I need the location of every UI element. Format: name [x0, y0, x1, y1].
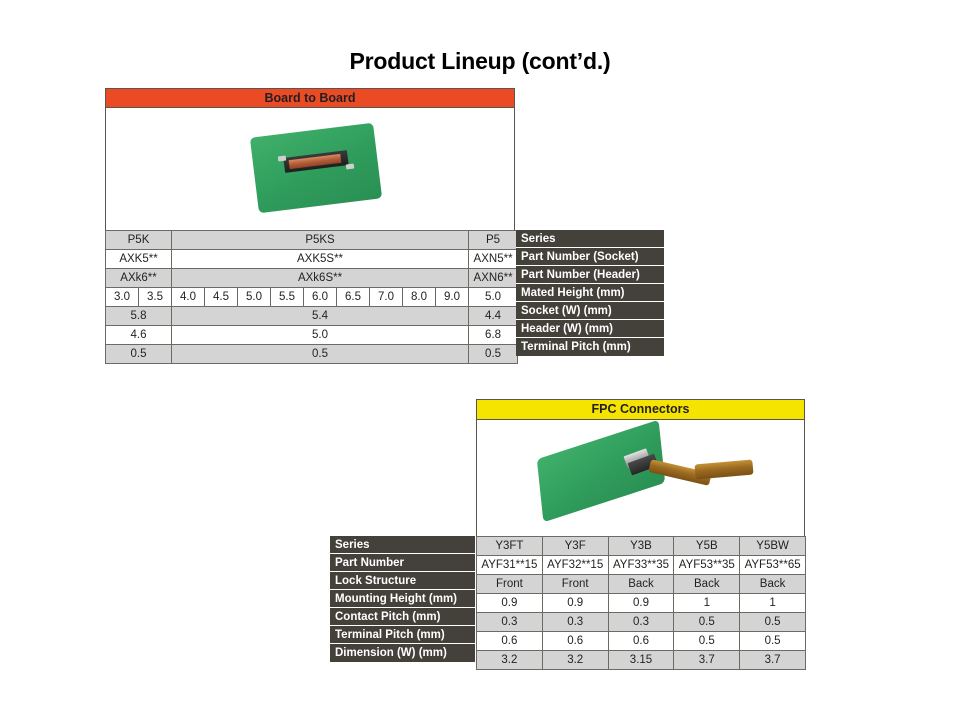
table-cell: 0.6 — [542, 632, 608, 651]
table-cell: 1 — [674, 594, 740, 613]
table-cell: 3.7 — [674, 651, 740, 670]
table-cell: 4.6 — [106, 326, 172, 345]
table-cell: 3.0 — [106, 288, 139, 307]
table-cell: 5.4 — [172, 307, 469, 326]
connector-tab-left — [278, 156, 287, 162]
table-cell: 0.6 — [477, 632, 543, 651]
table-cell: Front — [477, 575, 543, 594]
board-to-board-row-label: Part Number (Header) — [516, 266, 664, 284]
table-cell: 0.9 — [542, 594, 608, 613]
table-row: P5KP5KSP5 — [106, 231, 518, 250]
table-cell: Y3FT — [477, 537, 543, 556]
table-cell: 0.3 — [477, 613, 543, 632]
fpc-table-body: Y3FTY3FY3BY5BY5BWAYF31**15AYF32**15AYF33… — [477, 537, 806, 670]
table-cell: 3.15 — [608, 651, 674, 670]
table-cell: 6.0 — [304, 288, 337, 307]
table-cell: 0.5 — [469, 345, 518, 364]
table-cell: 9.0 — [436, 288, 469, 307]
table-cell: 5.8 — [106, 307, 172, 326]
table-cell: P5 — [469, 231, 518, 250]
table-cell: 3.5 — [139, 288, 172, 307]
table-cell: 5.0 — [172, 326, 469, 345]
board-to-board-row-labels: SeriesPart Number (Socket)Part Number (H… — [516, 230, 664, 356]
table-cell: 0.6 — [608, 632, 674, 651]
fpc-row-label: Mounting Height (mm) — [330, 590, 475, 608]
fpc-spec-table: Y3FTY3FY3BY5BY5BWAYF31**15AYF32**15AYF33… — [476, 536, 806, 670]
fpc-row-label: Terminal Pitch (mm) — [330, 626, 475, 644]
table-cell: Y3B — [608, 537, 674, 556]
table-cell: 0.5 — [172, 345, 469, 364]
board-to-board-row-label: Terminal Pitch (mm) — [516, 338, 664, 356]
table-cell: Y3F — [542, 537, 608, 556]
fpc-flex-cable-tail — [694, 460, 753, 480]
table-cell: 0.3 — [542, 613, 608, 632]
table-row: AYF31**15AYF32**15AYF33**35AYF53**35AYF5… — [477, 556, 806, 575]
board-to-board-row-label: Part Number (Socket) — [516, 248, 664, 266]
table-cell: AYF33**35 — [608, 556, 674, 575]
table-cell: 3.7 — [740, 651, 806, 670]
table-cell: 3.2 — [542, 651, 608, 670]
table-row: AXk6**AXk6S**AXN6** — [106, 269, 518, 288]
table-row: 0.50.50.5 — [106, 345, 518, 364]
table-cell: 0.5 — [674, 613, 740, 632]
table-cell: Back — [740, 575, 806, 594]
board-to-board-photo — [105, 108, 515, 230]
table-cell: 0.5 — [106, 345, 172, 364]
table-cell: Y5BW — [740, 537, 806, 556]
fpc-row-label: Dimension (W) (mm) — [330, 644, 475, 662]
table-cell: 6.8 — [469, 326, 518, 345]
table-row: FrontFrontBackBackBack — [477, 575, 806, 594]
table-cell: 0.5 — [740, 632, 806, 651]
table-row: 0.60.60.60.50.5 — [477, 632, 806, 651]
board-to-board-row-label: Socket (W) (mm) — [516, 302, 664, 320]
table-cell: 5.0 — [238, 288, 271, 307]
table-cell: 0.3 — [608, 613, 674, 632]
table-cell: AXN5** — [469, 250, 518, 269]
table-cell: 5.5 — [271, 288, 304, 307]
table-row: 5.85.44.4 — [106, 307, 518, 326]
table-cell: AYF53**35 — [674, 556, 740, 575]
table-cell: AXK5S** — [172, 250, 469, 269]
pcb-board — [537, 420, 665, 522]
fpc-row-label: Series — [330, 536, 475, 554]
table-cell: 7.0 — [370, 288, 403, 307]
table-cell: AXk6** — [106, 269, 172, 288]
table-cell: AXK5** — [106, 250, 172, 269]
connector-tab-right — [346, 164, 355, 170]
table-cell: Y5B — [674, 537, 740, 556]
board-to-board-spec-table: P5KP5KSP5AXK5**AXK5S**AXN5**AXk6**AXk6S*… — [105, 230, 518, 364]
table-cell: 0.9 — [477, 594, 543, 613]
table-cell: 0.5 — [740, 613, 806, 632]
table-row: 0.90.90.911 — [477, 594, 806, 613]
fpc-connectors-banner: FPC Connectors — [476, 399, 805, 420]
table-cell: 6.5 — [337, 288, 370, 307]
fpc-row-labels: SeriesPart NumberLock StructureMounting … — [330, 536, 475, 662]
table-cell: 4.5 — [205, 288, 238, 307]
board-to-board-table-body: P5KP5KSP5AXK5**AXK5S**AXN5**AXk6**AXk6S*… — [106, 231, 518, 364]
table-row: Y3FTY3FY3BY5BY5BW — [477, 537, 806, 556]
fpc-row-label: Contact Pitch (mm) — [330, 608, 475, 626]
table-cell: P5KS — [172, 231, 469, 250]
table-cell: 0.5 — [674, 632, 740, 651]
table-cell: 4.0 — [172, 288, 205, 307]
table-row: 3.03.54.04.55.05.56.06.57.08.09.05.0 — [106, 288, 518, 307]
board-to-board-row-label: Mated Height (mm) — [516, 284, 664, 302]
table-cell: 1 — [740, 594, 806, 613]
table-row: 3.23.23.153.73.7 — [477, 651, 806, 670]
table-cell: AYF53**65 — [740, 556, 806, 575]
fpc-row-label: Lock Structure — [330, 572, 475, 590]
table-cell: Front — [542, 575, 608, 594]
table-cell: 5.0 — [469, 288, 518, 307]
board-to-board-banner: Board to Board — [105, 88, 515, 108]
table-cell: 4.4 — [469, 307, 518, 326]
fpc-row-label: Part Number — [330, 554, 475, 572]
table-row: 0.30.30.30.50.5 — [477, 613, 806, 632]
board-to-board-row-label: Series — [516, 230, 664, 248]
table-cell: AYF31**15 — [477, 556, 543, 575]
fpc-connector-photo — [476, 420, 805, 536]
page-title: Product Lineup (cont’d.) — [0, 48, 960, 75]
table-cell: AXk6S** — [172, 269, 469, 288]
board-to-board-row-label: Header (W) (mm) — [516, 320, 664, 338]
table-row: 4.65.06.8 — [106, 326, 518, 345]
table-cell: P5K — [106, 231, 172, 250]
table-cell: 8.0 — [403, 288, 436, 307]
table-cell: Back — [608, 575, 674, 594]
table-row: AXK5**AXK5S**AXN5** — [106, 250, 518, 269]
table-cell: AXN6** — [469, 269, 518, 288]
table-cell: AYF32**15 — [542, 556, 608, 575]
table-cell: 0.9 — [608, 594, 674, 613]
table-cell: 3.2 — [477, 651, 543, 670]
table-cell: Back — [674, 575, 740, 594]
